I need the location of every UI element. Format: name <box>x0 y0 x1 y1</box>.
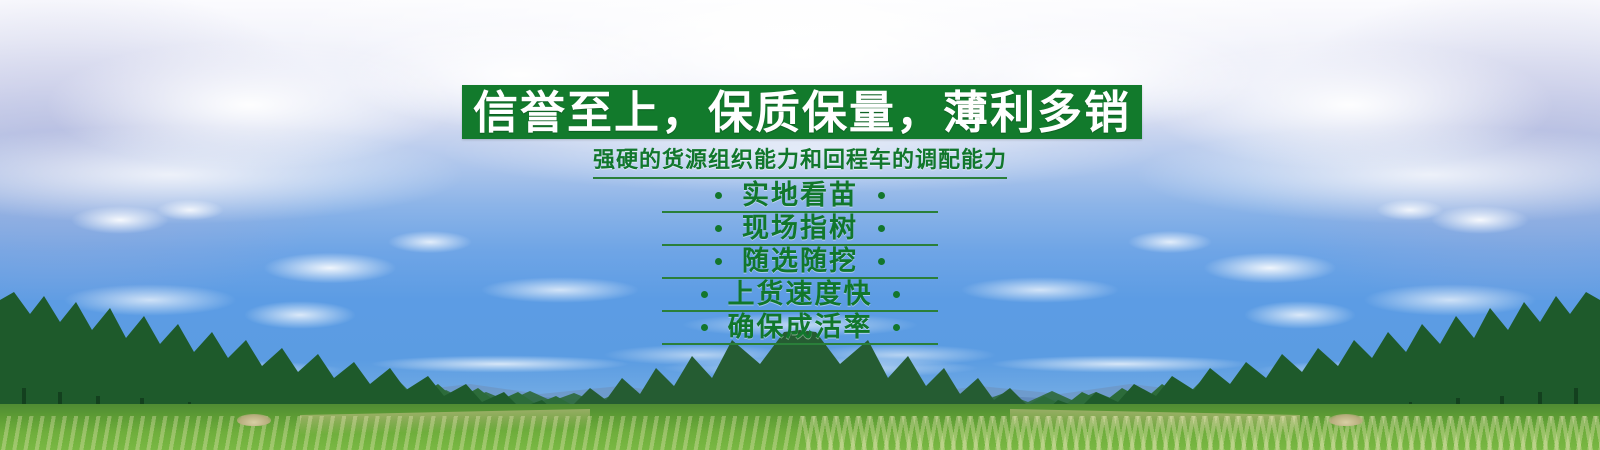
banner-content: 信誉至上，保质保量，薄利多销 强硬的货源组织能力和回程车的调配能力 实地看苗 现… <box>0 0 1600 450</box>
feature-item: 确保成活率 <box>662 312 938 345</box>
feature-label: 实地看苗 <box>742 182 858 209</box>
feature-item: 现场指树 <box>662 213 938 246</box>
main-title-text: 信誉至上，保质保量，薄利多销 <box>473 90 1131 135</box>
main-title-bar: 信誉至上，保质保量，薄利多销 <box>462 85 1142 139</box>
feature-list: 实地看苗 现场指树 随选随挖 上货速度快 确保成活率 <box>0 180 1600 345</box>
subtitle-container: 强硬的货源组织能力和回程车的调配能力 <box>0 146 1600 179</box>
bullet-dot-icon <box>878 258 885 265</box>
bullet-dot-icon <box>715 225 722 232</box>
bullet-dot-icon <box>878 225 885 232</box>
feature-item: 实地看苗 <box>662 180 938 213</box>
feature-label: 现场指树 <box>742 215 858 242</box>
bullet-dot-icon <box>893 291 900 298</box>
subtitle-text: 强硬的货源组织能力和回程车的调配能力 <box>593 146 1007 179</box>
feature-label: 随选随挖 <box>742 248 858 275</box>
bullet-dot-icon <box>878 192 885 199</box>
feature-item: 随选随挖 <box>662 246 938 279</box>
bullet-dot-icon <box>893 324 900 331</box>
promotional-banner: 信誉至上，保质保量，薄利多销 强硬的货源组织能力和回程车的调配能力 实地看苗 现… <box>0 0 1600 450</box>
bullet-dot-icon <box>701 324 708 331</box>
feature-item: 上货速度快 <box>662 279 938 312</box>
feature-label: 确保成活率 <box>728 314 873 341</box>
feature-label: 上货速度快 <box>728 281 873 308</box>
bullet-dot-icon <box>715 258 722 265</box>
bullet-dot-icon <box>701 291 708 298</box>
bullet-dot-icon <box>715 192 722 199</box>
